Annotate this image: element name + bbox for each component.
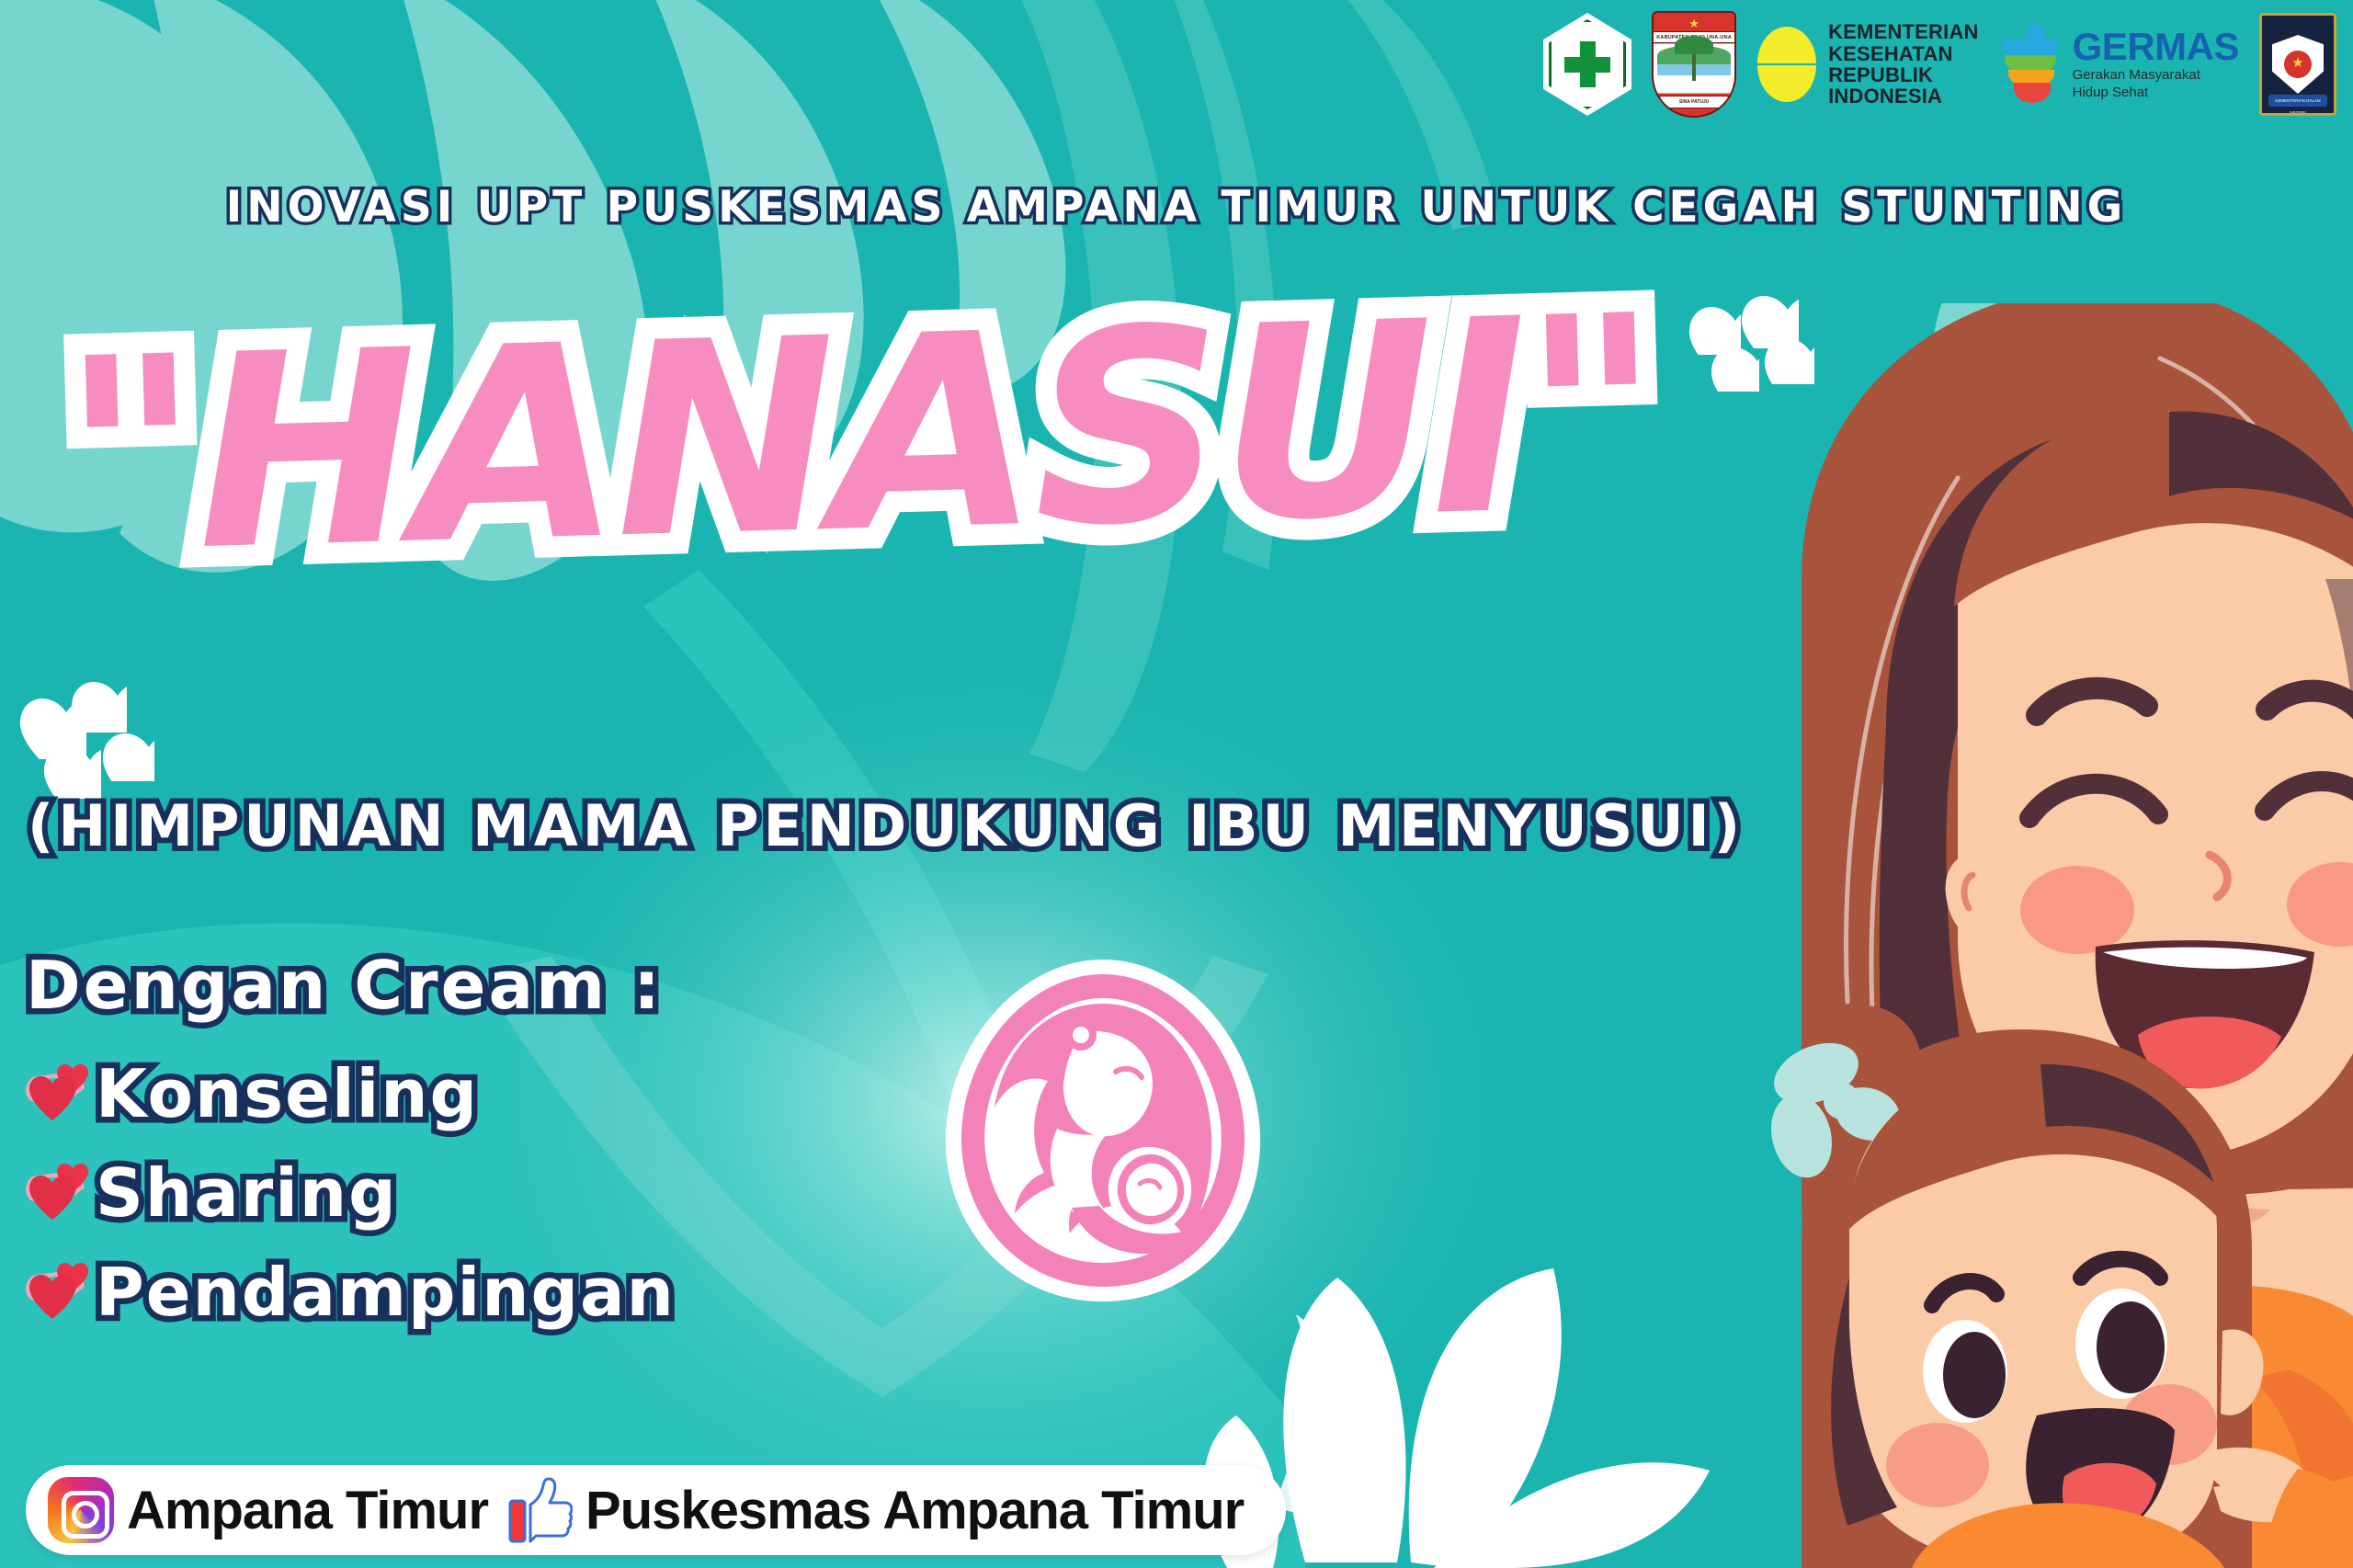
kemendagri-logo: ★ KEMENTERIAN DALAM NEGERI (2259, 13, 2336, 116)
palm-tree-icon (1692, 44, 1696, 81)
heart-decoration-icon (72, 682, 127, 733)
social-media-bar: Ampana Timur Puskesmas Ampana Timur (26, 1465, 1286, 1555)
service-label: Sharing (96, 1154, 398, 1232)
heart-decoration-icon (103, 733, 154, 781)
services-heading: Dengan Cream : (26, 947, 676, 1024)
list-item: Sharing (26, 1154, 676, 1232)
kemendagri-ribbon-label: KEMENTERIAN DALAM NEGERI (2268, 95, 2327, 107)
kabupaten-logo: ★ KABUPATEN TOJO UNA-UNA SINA PATUJU (1652, 11, 1736, 118)
puskesmas-logo (1543, 13, 1631, 116)
service-label: Pendampingan (96, 1254, 676, 1331)
germas-tagline-1: Gerakan Masyarakat (2073, 67, 2239, 85)
double-heart-icon (26, 1263, 92, 1322)
kemenkes-line-3: REPUBLIK (1828, 64, 1979, 85)
kemenkes-mark-icon (1756, 26, 1817, 103)
instagram-handle: Ampana Timur (127, 1480, 488, 1541)
poster-canvas: ★ KABUPATEN TOJO UNA-UNA SINA PATUJU KEM… (0, 0, 2353, 1568)
thumbs-up-icon[interactable] (508, 1477, 573, 1543)
kemenkes-wordmark: KEMENTERIAN KESEHATAN REPUBLIK INDONESIA (1828, 21, 1979, 107)
poster-subtitle: (HIMPUNAN MAMA PENDUKUNG IBU MENYUSUI) (28, 792, 1745, 859)
kemenkes-line-4: INDONESIA (1828, 85, 1979, 107)
germas-wordmark: GERMAS (2073, 27, 2239, 67)
poster-title-wrap: "HANASUI" (0, 303, 1719, 570)
white-leaf-topcenter (1273, 1314, 1360, 1526)
list-item: Pendampingan (26, 1254, 676, 1331)
service-label: Konseling (96, 1055, 479, 1132)
heart-decoration-icon (44, 746, 101, 799)
breastfeeding-mother-baby-logo (919, 947, 1287, 1314)
poster-tagline: INOVASI UPT PUSKESMAS AMPANA TIMUR UNTUK… (0, 182, 2353, 233)
germas-mark-icon (1999, 22, 2063, 107)
list-item: Konseling (26, 1055, 676, 1132)
instagram-icon[interactable] (48, 1477, 114, 1543)
kemenkes-line-1: KEMENTERIAN (1828, 21, 1979, 42)
germas-tagline-2: Hidup Sehat (2073, 85, 2239, 102)
double-heart-icon (26, 1164, 92, 1222)
facebook-page-name: Puskesmas Ampana Timur (585, 1480, 1244, 1541)
logo-strip: ★ KABUPATEN TOJO UNA-UNA SINA PATUJU KEM… (1543, 11, 2336, 118)
kabupaten-ribbon-label: SINA PATUJU (1659, 96, 1729, 108)
garuda-shield-icon: ★ (2272, 35, 2324, 94)
green-cross-icon (1563, 40, 1612, 89)
kemenkes-line-2: KESEHATAN (1828, 43, 1979, 64)
double-heart-icon (26, 1064, 92, 1123)
poster-title: "HANASUI" (59, 281, 1660, 592)
heart-decoration-icon (20, 699, 86, 759)
germas-logo: GERMAS Gerakan Masyarakat Hidup Sehat (1999, 22, 2239, 107)
star-icon: ★ (1688, 17, 1699, 29)
kemenkes-logo: KEMENTERIAN KESEHATAN REPUBLIK INDONESIA (1756, 21, 1979, 107)
services-list: Dengan Cream : Konseling Sharing Pendamp… (26, 947, 676, 1353)
